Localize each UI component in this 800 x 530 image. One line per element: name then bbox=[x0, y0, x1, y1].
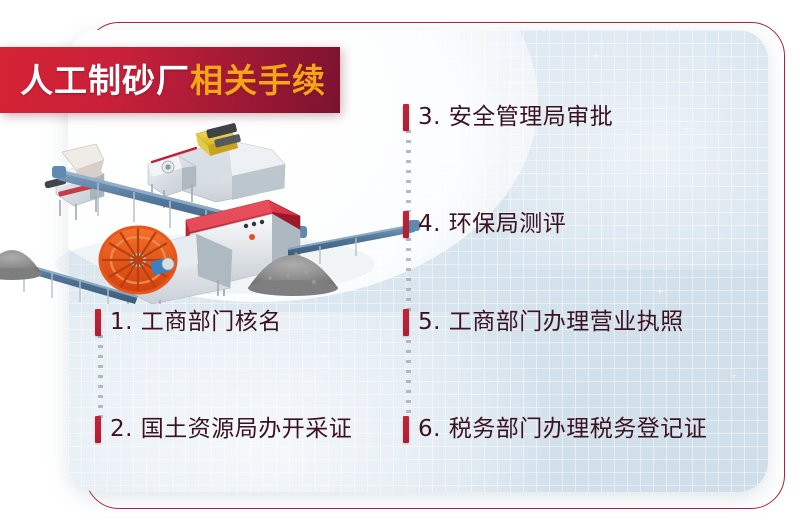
gravel-pile-left bbox=[0, 250, 42, 280]
step-label: 5. 工商部门办理营业执照 bbox=[418, 311, 684, 334]
step-item-3[interactable]: 3. 安全管理局审批 bbox=[403, 102, 613, 132]
connector-dots-right-56 bbox=[406, 340, 411, 420]
step-item-5[interactable]: 5. 工商部门办理营业执照 bbox=[403, 307, 684, 337]
step-marker-icon bbox=[95, 309, 101, 336]
banner-title-accent: 相关手续 bbox=[190, 61, 326, 100]
connector-dots-right-45 bbox=[406, 238, 411, 316]
banner-title-primary: 人工制砂厂 bbox=[20, 61, 190, 100]
title-banner: 人工制砂厂相关手续 bbox=[0, 47, 340, 113]
sand-production-line-illustration bbox=[0, 104, 420, 304]
step-item-4[interactable]: 4. 环保局测评 bbox=[403, 209, 566, 239]
step-marker-icon bbox=[403, 104, 409, 131]
step-item-6[interactable]: 6. 税务部门办理税务登记证 bbox=[403, 414, 707, 444]
step-item-2[interactable]: 2. 国土资源局办开采证 bbox=[95, 414, 352, 444]
step-label: 1. 工商部门核名 bbox=[110, 311, 282, 334]
step-marker-icon bbox=[403, 416, 409, 443]
step-label: 2. 国土资源局办开采证 bbox=[110, 418, 352, 441]
step-label: 3. 安全管理局审批 bbox=[418, 106, 613, 129]
step-marker-icon bbox=[403, 211, 409, 238]
connector-dots-left bbox=[98, 335, 103, 421]
panel-glow-bottom bbox=[68, 312, 548, 492]
banner-title: 人工制砂厂相关手续 bbox=[20, 64, 326, 97]
step-marker-icon bbox=[95, 416, 101, 443]
infographic-root: 1. 工商部门核名 2. 国土资源局办开采证 3. 安全管理局审批 4. 环保局… bbox=[0, 0, 800, 530]
connector-dots-right-34 bbox=[406, 130, 411, 212]
step-item-1[interactable]: 1. 工商部门核名 bbox=[95, 307, 282, 337]
step-label: 4. 环保局测评 bbox=[418, 213, 566, 236]
step-label: 6. 税务部门办理税务登记证 bbox=[418, 418, 707, 441]
step-marker-icon bbox=[403, 309, 409, 336]
